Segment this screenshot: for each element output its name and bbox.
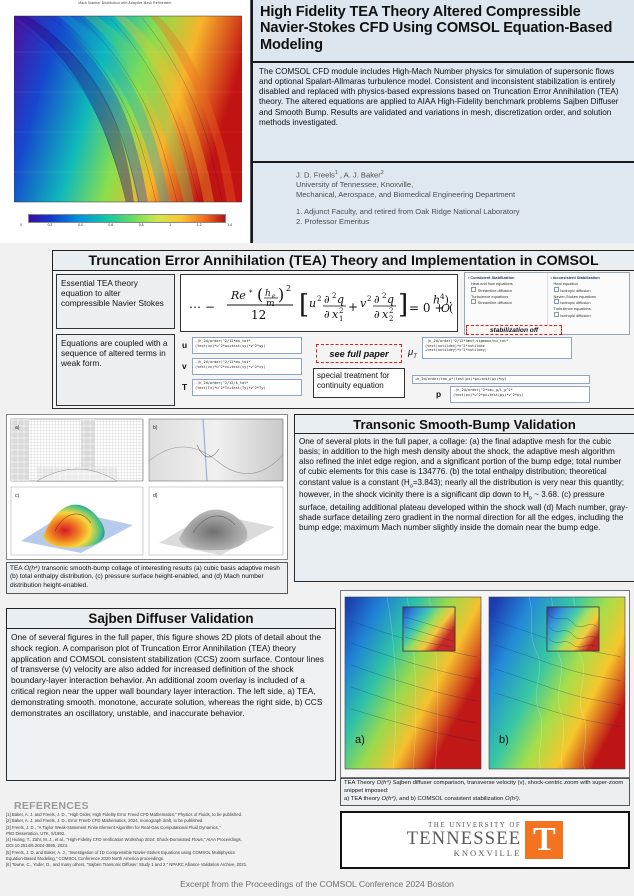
svg-text:Re: Re bbox=[230, 289, 246, 302]
tea-label-equation: Essential TEA theory equation to alter c… bbox=[56, 274, 175, 329]
weakform-var-u: u bbox=[182, 340, 187, 350]
hero-colorbar-ticks: 0 0.2 0.4 0.6 0.8 1 1.2 1.4 bbox=[20, 223, 232, 231]
ut-logo-line-2: TENNESSEE bbox=[407, 830, 522, 849]
svg-text:q: q bbox=[337, 293, 344, 306]
svg-text:∂: ∂ bbox=[324, 308, 330, 321]
stabilization-off-callout: stabilization off bbox=[466, 325, 562, 335]
svg-text:2: 2 bbox=[286, 284, 291, 293]
sajben-paragraph: One of several figures in the full paper… bbox=[7, 629, 335, 718]
svg-text:2: 2 bbox=[332, 292, 336, 300]
svg-text:2: 2 bbox=[389, 307, 393, 315]
svg-text:x: x bbox=[332, 308, 339, 321]
svg-text:∂: ∂ bbox=[324, 293, 330, 306]
sajben-panel-a: a) bbox=[345, 597, 481, 769]
bump-panel-c: c) bbox=[11, 487, 143, 555]
tea-equation-tail: h4). bbox=[433, 293, 452, 307]
section-header-tea: Truncation Error Annihilation (TEA) Theo… bbox=[52, 250, 634, 271]
poster-title-box: High Fidelity TEA Theory Altered Compres… bbox=[251, 0, 634, 63]
stab-subsection-label: Turbulence equations bbox=[471, 294, 545, 299]
authors-box: J. D. Freels1 , A. J. Baker2 University … bbox=[251, 163, 634, 243]
reference-item: [6] Towne, C., Yoder, D., and many other… bbox=[6, 862, 330, 868]
stab-checkbox-isotropic-turb[interactable]: Isotropic diffusion bbox=[554, 312, 628, 318]
weakform-var-mu-turbulent: μT bbox=[408, 347, 417, 360]
hero-colorbar bbox=[28, 214, 226, 223]
cb-tick: 1.4 bbox=[227, 223, 232, 231]
svg-text:v: v bbox=[360, 297, 367, 310]
svg-text:12: 12 bbox=[251, 308, 266, 322]
author-2: , A. J. Baker bbox=[338, 171, 381, 180]
cb-tick: 0.2 bbox=[48, 223, 53, 231]
bump-caption-order: O(h⁴) bbox=[24, 565, 40, 572]
saj-cap-order-1: O(h⁴) bbox=[377, 780, 391, 786]
stab-checkbox-isotropic-heat[interactable]: Isotropic diffusion bbox=[554, 287, 628, 293]
svg-text:d): d) bbox=[153, 493, 158, 499]
svg-text:⋯ −: ⋯ − bbox=[189, 300, 215, 314]
svg-text:2: 2 bbox=[339, 307, 343, 315]
sajben-comparison-figure: a) bbox=[340, 590, 630, 778]
svg-text:q: q bbox=[387, 293, 394, 306]
svg-text:+: + bbox=[348, 300, 358, 314]
sajben-label-a: a) bbox=[355, 734, 365, 746]
see-full-paper-label: see full paper bbox=[329, 349, 388, 359]
consistent-stabilization-header[interactable]: Consistent Stabilization bbox=[468, 275, 545, 280]
weakform-code-T: -(h_2d/order)^2/12/k_tot* (test(Tx)*u^2*… bbox=[192, 379, 302, 396]
stab-subsection-label: Heat equation bbox=[554, 281, 628, 286]
sajben-panel-b: b) bbox=[489, 597, 625, 769]
stab-checkbox-streamline-diffusion-turb[interactable]: Streamline diffusion bbox=[471, 299, 545, 305]
section-header-smooth-bump: Transonic Smooth-Bump Validation bbox=[294, 414, 634, 434]
svg-text:[: [ bbox=[299, 290, 309, 320]
see-full-paper-callout: see full paper bbox=[316, 344, 402, 363]
cb-tick: 0.8 bbox=[139, 223, 144, 231]
hero-figure-title: Mach Number Distribution with Adaptive M… bbox=[0, 1, 250, 5]
bump-caption-part-2: transonic smooth-bump collage of interes… bbox=[10, 565, 280, 589]
author-1: J. D. Freels bbox=[296, 171, 335, 180]
ut-logo-line-1: THE UNIVERSITY OF bbox=[407, 822, 522, 829]
cb-tick: 1.2 bbox=[197, 223, 202, 231]
smooth-bump-description: One of several plots in the full paper, … bbox=[294, 434, 634, 582]
section-header-sajben-label: Sajben Diffuser Validation bbox=[88, 611, 253, 626]
affiliation-line-2: Mechanical, Aerospace, and Biomedical En… bbox=[296, 190, 634, 200]
weakform-code-mut: -(h_2d/order)^2/12*hmnf.sigmanu/nu_tot* … bbox=[422, 337, 572, 359]
svg-text:]: ] bbox=[398, 290, 408, 320]
ut-power-t-icon bbox=[525, 821, 563, 859]
affiliation-line-1: University of Tennessee, Knoxville, bbox=[296, 180, 634, 190]
bump-panel-a: a) bbox=[11, 419, 143, 481]
stab-checkbox-isotropic-ns[interactable]: Isotropic diffusion bbox=[554, 299, 628, 305]
saj-cap-5: . bbox=[519, 796, 521, 802]
svg-text:*: * bbox=[249, 289, 253, 297]
smooth-bump-collage-figure: a) b) c) bbox=[6, 414, 288, 560]
abstract-box: The COMSOL CFD module includes High-Mach… bbox=[251, 63, 634, 163]
stab-subsection-label: Navier-Stokes equations bbox=[554, 294, 628, 299]
references-list: [1] Baker, A. J. and Freels, J. D., "Hig… bbox=[6, 812, 330, 869]
references-header: REFERENCES bbox=[14, 800, 89, 812]
bump-caption-part-1: TEA bbox=[10, 565, 24, 572]
stab-checkbox-streamline-diffusion-flow[interactable]: Streamline diffusion bbox=[471, 287, 545, 293]
hero-contour-svg bbox=[14, 12, 242, 210]
smooth-bump-collage-svg: a) b) c) bbox=[7, 415, 287, 559]
author-names: J. D. Freels1 , A. J. Baker2 bbox=[296, 170, 634, 180]
abstract-text: The COMSOL CFD module includes High-Mach… bbox=[253, 63, 634, 128]
author-2-sup: 2 bbox=[381, 170, 384, 176]
saj-cap-1: TEA Theory bbox=[344, 780, 377, 786]
weakform-var-T: T bbox=[182, 382, 187, 392]
cb-tick: 0 bbox=[20, 223, 22, 231]
university-logo-box: THE UNIVERSITY OF TENNESSEE KNOXVILLE bbox=[340, 811, 630, 869]
svg-text:): ) bbox=[278, 285, 284, 304]
weakform-code-v: -(h_2d/order)^2/12*mu_tot* (test(vx)*u^2… bbox=[192, 358, 302, 375]
svg-text:2: 2 bbox=[389, 315, 393, 323]
inconsistent-stabilization-header[interactable]: Inconsistent Stabilization bbox=[551, 275, 628, 280]
saj-cap-3: a) TEA theory bbox=[344, 796, 382, 802]
section-header-smooth-bump-label: Transonic Smooth-Bump Validation bbox=[353, 417, 576, 432]
hero-plot-area bbox=[14, 12, 242, 210]
section-header-tea-label: Truncation Error Annihilation (TEA) Theo… bbox=[88, 253, 598, 269]
stab-subsection-label: Heat and flow equations bbox=[471, 281, 545, 286]
tea-equation-box: ⋯ − Re * ( h e m ) 2 12 [ u 2 ∂ 2 q ∂ bbox=[180, 274, 458, 332]
svg-text:x: x bbox=[382, 308, 389, 321]
hero-cfd-figure: Mach Number Distribution with Adaptive M… bbox=[0, 0, 251, 243]
weakform-code-p2: -(h_2d/order)^2*tau_p/L_p^2* (test(px)*u… bbox=[450, 386, 590, 403]
cb-tick: 0.6 bbox=[108, 223, 113, 231]
bump-panel-d: d) bbox=[149, 487, 283, 555]
tea-equation-svg: ⋯ − Re * ( h e m ) 2 12 [ u 2 ∂ 2 q ∂ bbox=[187, 281, 453, 329]
sajben-caption: TEA Theory O(h⁴) Sajben diffuser compari… bbox=[340, 778, 630, 806]
svg-text:u: u bbox=[309, 297, 316, 310]
footer-text: Excerpt from the Proceedings of the COMS… bbox=[180, 879, 454, 889]
authors-block: J. D. Freels1 , A. J. Baker2 University … bbox=[253, 163, 634, 227]
svg-text:2: 2 bbox=[382, 292, 386, 300]
cb-tick: 0.4 bbox=[78, 223, 83, 231]
bump-panel-b: b) bbox=[149, 419, 283, 481]
weakform-code-p1: +h_2d/order/tau_p*(test(px)*px+test(py)*… bbox=[412, 375, 590, 384]
saj-cap-order-2: O(h⁴) bbox=[382, 796, 396, 802]
weakform-var-v: v bbox=[182, 361, 187, 371]
tea-label-weakform: Equations are coupled with a sequence of… bbox=[56, 334, 175, 406]
smooth-bump-caption: TEA O(h⁴) transonic smooth-bump collage … bbox=[6, 562, 288, 594]
ut-logo-line-3: KNOXVILLE bbox=[407, 849, 522, 858]
cb-tick: 1 bbox=[169, 223, 171, 231]
continuity-note-box: special treatment for continuity equatio… bbox=[313, 368, 405, 398]
svg-text:1: 1 bbox=[339, 315, 343, 323]
svg-text:∂: ∂ bbox=[374, 293, 380, 306]
ut-logo: THE UNIVERSITY OF TENNESSEE KNOXVILLE bbox=[407, 821, 564, 859]
author-note-1: 1. Adjunct Faculty, and retired from Oak… bbox=[296, 207, 634, 217]
sajben-comparison-svg: a) bbox=[341, 591, 629, 777]
saj-cap-4: , and b) COMSOL consistent stabilization bbox=[396, 796, 505, 802]
svg-text:c): c) bbox=[15, 493, 20, 499]
author-note-2: 2. Professor Emeritus bbox=[296, 217, 634, 227]
svg-text:m: m bbox=[266, 299, 275, 309]
svg-text:2: 2 bbox=[367, 295, 371, 303]
stab-subsection-label: Turbulence equations bbox=[554, 306, 628, 311]
page-title: High Fidelity TEA Theory Altered Compres… bbox=[253, 0, 634, 53]
spacer bbox=[296, 200, 634, 207]
svg-text:∂: ∂ bbox=[374, 308, 380, 321]
svg-text:2: 2 bbox=[317, 295, 321, 303]
svg-text:h: h bbox=[265, 289, 271, 299]
mu-subscript: T bbox=[413, 354, 417, 360]
weakform-code-u: -(h_2d/order)^2/12*mu_tot* (test(ux)*u^2… bbox=[192, 337, 302, 354]
poster-root: Mach Number Distribution with Adaptive M… bbox=[0, 0, 634, 896]
footer-bar: Excerpt from the Proceedings of the COMS… bbox=[0, 872, 634, 896]
svg-text:(: ( bbox=[257, 285, 263, 304]
svg-text:a): a) bbox=[15, 425, 20, 431]
saj-cap-order-3: O(h²) bbox=[505, 796, 519, 802]
section-header-sajben: Sajben Diffuser Validation bbox=[6, 608, 336, 629]
weakform-var-p: p bbox=[436, 389, 441, 399]
sajben-description: One of several figures in the full paper… bbox=[6, 629, 336, 781]
svg-text:b): b) bbox=[153, 425, 158, 431]
ut-logo-wordmark: THE UNIVERSITY OF TENNESSEE KNOXVILLE bbox=[407, 822, 522, 858]
smooth-bump-paragraph: One of several plots in the full paper, … bbox=[295, 434, 634, 533]
sajben-label-b: b) bbox=[499, 734, 509, 746]
